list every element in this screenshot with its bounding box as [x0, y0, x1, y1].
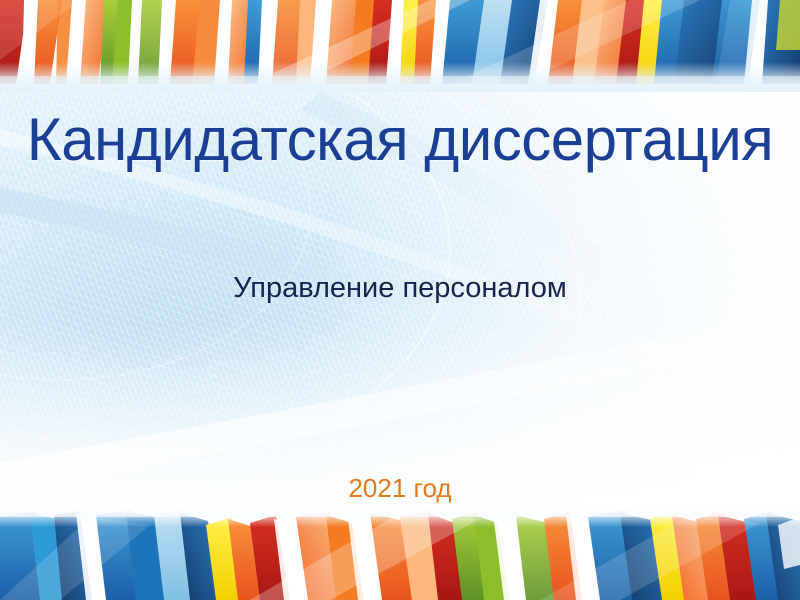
bottom-border-fade [0, 505, 800, 527]
slide-subtitle: Управление персоналом [0, 272, 800, 305]
slide-year: 2021 год [0, 473, 800, 504]
presentation-slide: Кандидатская диссертация Управление перс… [0, 0, 800, 600]
top-border-decoration [0, 0, 800, 92]
top-border-fade [0, 62, 800, 92]
bottom-border-decoration [0, 505, 800, 600]
slide-title: Кандидатская диссертация [0, 108, 800, 171]
